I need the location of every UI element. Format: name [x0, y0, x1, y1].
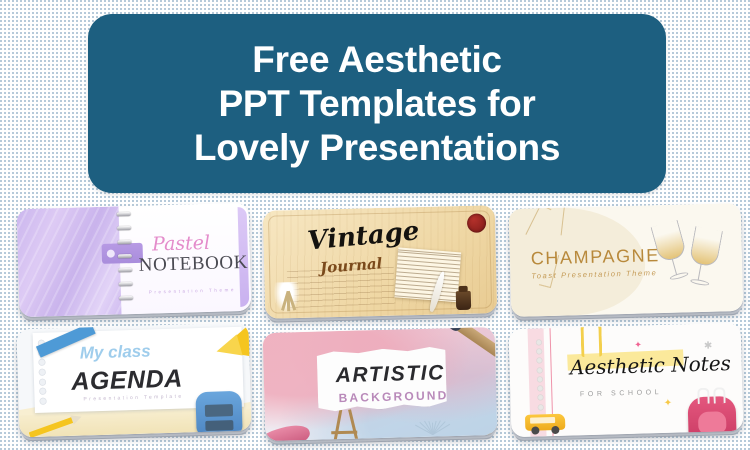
card-title-script: My class [80, 342, 151, 364]
paper-note-icon [395, 248, 461, 303]
template-gallery: Pastel NOTEBOOK Presentation Theme Vinta… [0, 198, 750, 450]
card-surface: Vintage Journal [263, 205, 498, 319]
backpack-icon [688, 396, 737, 437]
card-surface: My class AGENDA Presentation Template [16, 323, 251, 438]
star-icon: ✦ [634, 340, 642, 351]
template-card-pastel-notebook[interactable]: Pastel NOTEBOOK Presentation Theme [17, 203, 252, 317]
page-root: Free Aesthetic PPT Templates for Lovely … [0, 0, 750, 450]
backpack-icon [195, 391, 242, 436]
card-surface: ARTISTIC BACKGROUND [263, 327, 498, 441]
spiral-rings-icon [116, 212, 135, 308]
paperclip-icon [580, 323, 602, 357]
template-card-champagne[interactable]: CHAMPAGNE Toast Presentation Theme [509, 203, 744, 317]
template-card-my-class-agenda[interactable]: My class AGENDA Presentation Template [16, 323, 251, 438]
card-subtitle: BACKGROUND [338, 389, 448, 406]
school-bus-icon [525, 413, 565, 430]
headline-line-3: Lovely Presentations [194, 126, 560, 170]
inkwell-icon [456, 290, 471, 309]
card-title-main: AGENDA [71, 365, 183, 397]
template-card-aesthetic-notes[interactable]: ✦ ✦ ✱ Aesthetic Notes FOR SCHOOL [509, 323, 744, 437]
dried-flower-icon [271, 282, 302, 317]
headline-line-1: Free Aesthetic [252, 38, 501, 82]
sparkle-icon: ✱ [704, 341, 713, 352]
headline-banner: Free Aesthetic PPT Templates for Lovely … [88, 14, 666, 193]
card-title-main: NOTEBOOK [138, 251, 248, 276]
card-surface: Pastel NOTEBOOK Presentation Theme [17, 203, 252, 317]
fern-icon [409, 408, 456, 435]
card-title-main: CHAMPAGNE [531, 245, 661, 269]
star-icon: ✦ [664, 398, 673, 409]
headline-line-2: PPT Templates for [218, 82, 535, 126]
template-card-artistic-background[interactable]: ARTISTIC BACKGROUND [263, 327, 498, 441]
card-title-main: ARTISTIC [335, 362, 445, 389]
card-surface: CHAMPAGNE Toast Presentation Theme [509, 203, 744, 317]
template-card-vintage-journal[interactable]: Vintage Journal [263, 205, 498, 319]
card-surface: ✦ ✦ ✱ Aesthetic Notes FOR SCHOOL [509, 323, 744, 437]
